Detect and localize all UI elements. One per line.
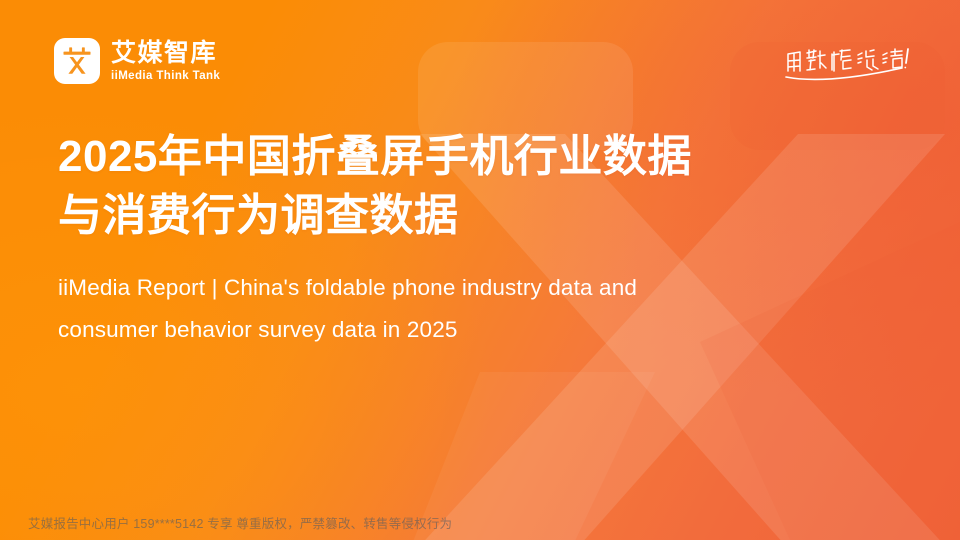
logo-name-cn: 艾媒智库 <box>111 40 220 67</box>
footer-watermark-text: 艾媒报告中心用户 159****5142 专享 尊重版权，严禁篡改、转售等侵权行… <box>28 513 452 532</box>
logo-name-en: iiMedia Think Tank <box>111 70 220 82</box>
title-block: 2025年中国折叠屏手机行业数据与消费行为调查数据 iiMedia Report… <box>58 128 888 350</box>
page-title: 2025年中国折叠屏手机行业数据与消费行为调查数据 <box>58 128 888 245</box>
logo-text-block: 艾媒智库 iiMedia Think Tank <box>111 40 220 82</box>
page-subtitle-line2: consumer behavior survey data in 2025 <box>58 317 458 342</box>
page-title-line2: 与消费行为调查数据 <box>58 191 459 240</box>
page-title-line1: 2025年中国折叠屏手机行业数据 <box>58 132 692 181</box>
report-cover-slide: 艾媒智库 iiMedia Think Tank <box>0 0 960 540</box>
page-subtitle-line1: iiMedia Report | China's foldable phone … <box>58 275 637 300</box>
brand-logo: 艾媒智库 iiMedia Think Tank <box>54 38 220 84</box>
handwritten-slogan-icon: 用数据说话! <box>782 44 914 88</box>
page-subtitle: iiMedia Report | China's foldable phone … <box>58 267 848 350</box>
iimedia-ai-glyph-icon <box>54 38 100 84</box>
